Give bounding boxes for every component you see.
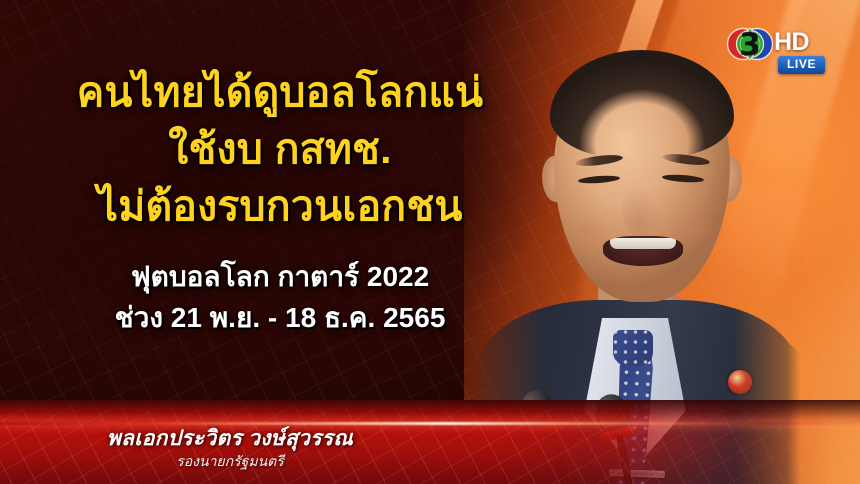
- channel-logo: 3 HD LIVE: [726, 20, 838, 82]
- mouth: [603, 236, 683, 266]
- subheadline-block: ฟุตบอลโลก กาตาร์ 2022 ช่วง 21 พ.ย. - 18 …: [0, 256, 560, 338]
- lower-third-banner: พลเอกประวิตร วงษ์สุวรรณ รองนายกรัฐมนตรี: [0, 400, 860, 484]
- subheadline-line-2: ช่วง 21 พ.ย. - 18 ธ.ค. 2565: [0, 297, 560, 338]
- lower-third-light-streak: [0, 422, 860, 425]
- subheadline-line-1: ฟุตบอลโลก กาตาร์ 2022: [0, 256, 560, 297]
- logo-hd-label: HD: [774, 28, 809, 56]
- channel-3-emblem-icon: 3: [726, 20, 774, 68]
- headline-block: คนไทยได้ดูบอลโลกแน่ ใช้งบ กสทช. ไม่ต้องร…: [0, 64, 560, 235]
- broadcast-screen: คนไทยได้ดูบอลโลกแน่ ใช้งบ กสทช. ไม่ต้องร…: [0, 0, 860, 484]
- lower-third-text: พลเอกประวิตร วงษ์สุวรรณ รองนายกรัฐมนตรี: [0, 426, 460, 471]
- lapel-pin: [728, 370, 752, 394]
- headline-line-1: คนไทยได้ดูบอลโลกแน่: [0, 64, 560, 121]
- necktie-knot: [613, 330, 653, 366]
- speaker-role: รองนายกรัฐมนตรี: [0, 452, 460, 471]
- teeth: [610, 238, 676, 249]
- svg-text:3: 3: [739, 27, 761, 63]
- speaker-name: พลเอกประวิตร วงษ์สุวรรณ: [0, 426, 460, 452]
- headline-line-3: ไม่ต้องรบกวนเอกชน: [0, 178, 560, 235]
- logo-live-badge: LIVE: [778, 56, 825, 74]
- nose: [622, 184, 662, 238]
- headline-line-2: ใช้งบ กสทช.: [0, 121, 560, 178]
- hair: [550, 50, 734, 158]
